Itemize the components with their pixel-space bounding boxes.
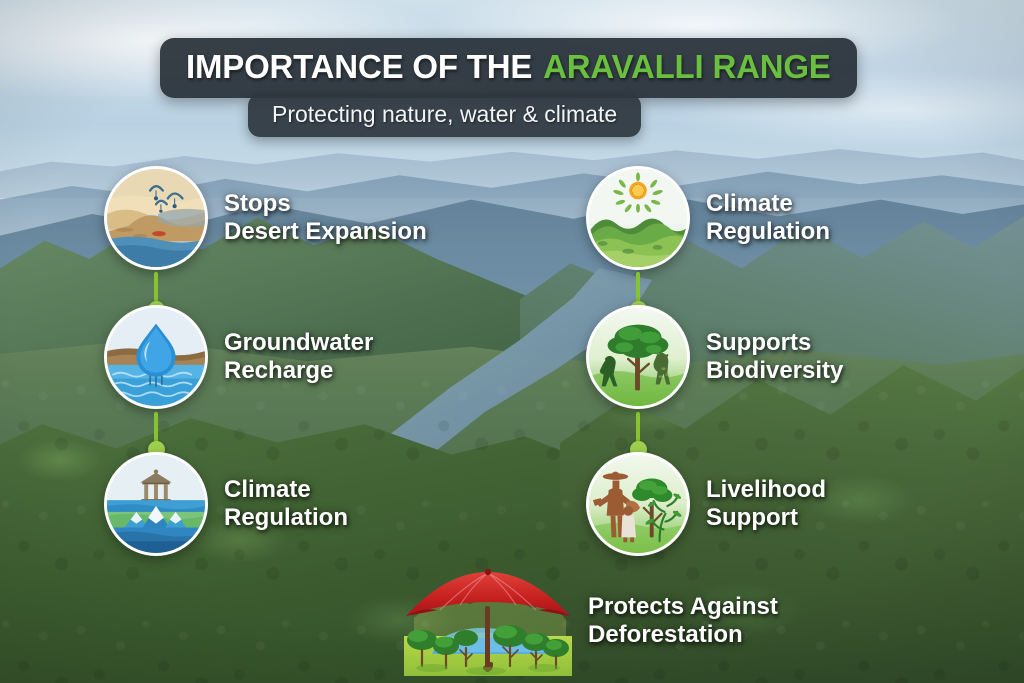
benefit-item-protects-against-deforestation[interactable]: Protects Against Deforestation	[398, 562, 778, 680]
tree-with-wildlife-icon	[586, 305, 690, 409]
benefit-item-climate-regulation-right[interactable]: Climate Regulation	[586, 166, 830, 270]
farmer-with-trees-icon	[586, 452, 690, 556]
benefit-label: Protects Against Deforestation	[588, 593, 778, 649]
benefit-label: Groundwater Recharge	[224, 329, 373, 385]
sun-over-green-hills-icon	[586, 166, 690, 270]
connector-line	[154, 272, 158, 302]
benefit-item-supports-biodiversity[interactable]: Supports Biodiversity	[586, 305, 843, 409]
benefit-label: Stops Desert Expansion	[224, 190, 427, 246]
lake-pavilion-mountains-icon	[104, 452, 208, 556]
benefit-item-climate-regulation-left[interactable]: Climate Regulation	[104, 452, 348, 556]
benefit-item-stops-desert-expansion[interactable]: Stops Desert Expansion	[104, 166, 427, 270]
red-umbrella-over-forest-icon	[398, 562, 578, 680]
page-title: IMPORTANCE OF THE	[186, 48, 532, 86]
page-title-accent: ARAVALLI RANGE	[543, 48, 830, 86]
infographic-poster: IMPORTANCE OF THE ARAVALLI RANGE Protect…	[0, 0, 1024, 683]
benefit-item-groundwater-recharge[interactable]: Groundwater Recharge	[104, 305, 373, 409]
desert-dunes-icon	[104, 166, 208, 270]
benefit-label: Climate Regulation	[224, 476, 348, 532]
page-subtitle-bar: Protecting nature, water & climate	[248, 94, 641, 137]
connector-line	[636, 412, 640, 442]
benefit-label: Climate Regulation	[706, 190, 830, 246]
benefit-item-livelihood-support[interactable]: Livelihood Support	[586, 452, 826, 556]
connector-line	[636, 272, 640, 302]
page-title-bar: IMPORTANCE OF THE ARAVALLI RANGE	[160, 38, 857, 98]
benefit-label: Supports Biodiversity	[706, 329, 843, 385]
connector-line	[154, 412, 158, 442]
page-subtitle: Protecting nature, water & climate	[272, 101, 617, 127]
benefit-label: Livelihood Support	[706, 476, 826, 532]
water-droplet-icon	[104, 305, 208, 409]
